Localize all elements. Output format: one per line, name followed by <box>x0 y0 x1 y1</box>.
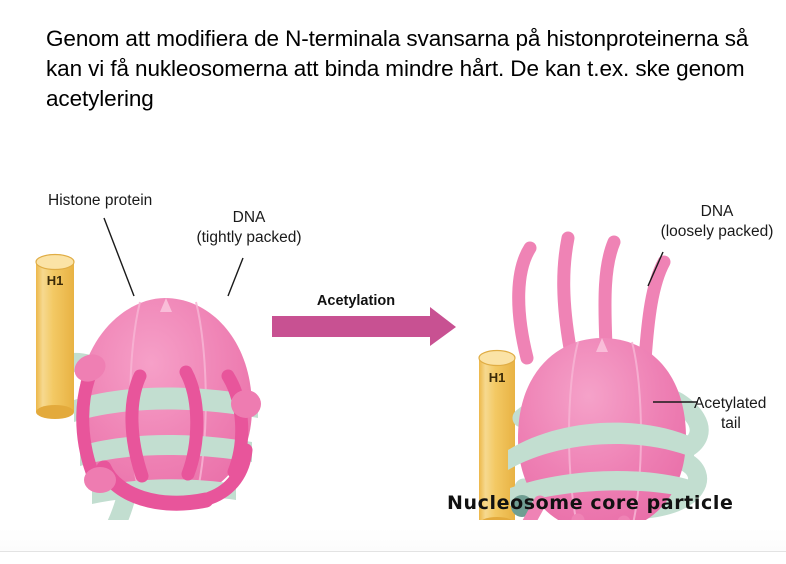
label-dna-tight-line2: (tightly packed) <box>196 229 301 246</box>
right-nucleosome-group: H1 <box>479 203 773 520</box>
acetylation-transition: Acetylation <box>272 293 456 346</box>
left-nucleosome-group: H1 <box>36 192 302 520</box>
leader-dna-tight <box>228 258 243 296</box>
label-dna-loose-line1: DNA <box>701 203 734 220</box>
label-dna-loose-line2: (loosely packed) <box>661 223 774 240</box>
h1-cylinder-left: H1 <box>36 255 74 420</box>
h1-label-left: H1 <box>47 273 64 288</box>
slide-heading: Genom att modifiera de N-terminala svans… <box>46 24 762 114</box>
acetylation-arrow-icon <box>272 307 456 346</box>
h1-label-right: H1 <box>489 370 506 385</box>
acetylation-arrow-label: Acetylation <box>317 293 395 309</box>
label-dna-tight-line1: DNA <box>233 209 266 226</box>
nucleosome-acetylation-figure: H1 <box>0 150 786 520</box>
slide-bottom-rule <box>0 551 786 552</box>
figure-caption: Nucleosome core particle <box>447 492 733 514</box>
leader-histone-protein <box>104 218 134 296</box>
label-acetylated-tail-line2: tail <box>721 415 741 432</box>
label-acetylated-tail-line1: Acetylated <box>694 395 766 412</box>
label-dna-tight-group: DNA (tightly packed) <box>196 209 301 296</box>
label-dna-loose-group: DNA (loosely packed) <box>648 203 773 286</box>
slide-canvas: Genom att modifiera de N-terminala svans… <box>0 0 786 564</box>
slide-bottom-band <box>0 528 786 551</box>
label-histone-protein: Histone protein <box>48 192 152 209</box>
